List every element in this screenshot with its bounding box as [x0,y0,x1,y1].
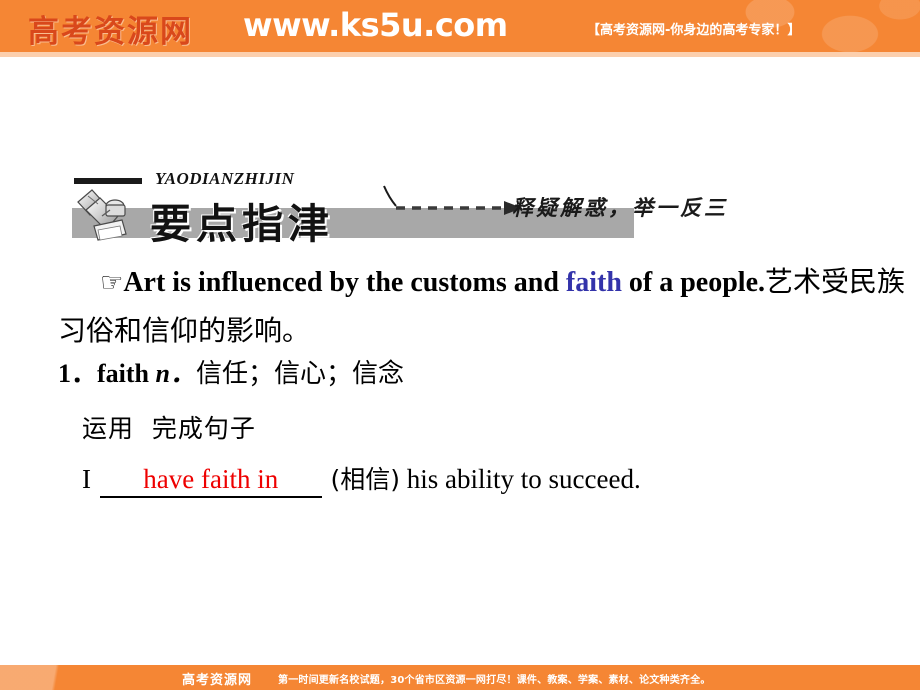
footer-text: 第一时间更新名校试题，30个省市区资源一网打尽！课件、教案、学案、素材、论文种类… [278,671,711,686]
answer-hint: (相信) [331,465,401,494]
lead-paragraph: ☞Art is influenced by the customs and fa… [58,258,920,355]
section-pinyin: YAODIANZHIJIN [155,169,294,189]
section-title-box: YAODIANZHIJIN 要点指津 释疑解惑，举一反三 [72,168,634,246]
lead-text-after: of a people. [622,267,765,298]
lead-zh-tail: 艺 [765,265,793,298]
practice-type-text: 完成句子 [152,414,256,443]
practice-label-text: 运用 [82,414,134,443]
brand-url: www.ks5u.com [243,6,508,44]
footer-logo: 高考资源网 [182,669,252,688]
vocab-entry: 1．faith n．信任；信心；信念 [58,353,404,390]
entry-definition: 信任；信心；信念 [196,359,404,389]
title-rule [74,178,142,184]
practice-heading: 运用 完成句子 [82,409,256,445]
slide-page: 高考资源网 www.ks5u.com 【高考资源网-你身边的高考专家！】 [0,0,920,690]
entry-part-of-speech: n． [156,359,196,388]
sentence-end: his ability to succeed. [407,464,641,494]
stapler-icon [76,186,140,246]
section-slogan: 释疑解惑，举一反三 [512,192,728,222]
entry-number: 1． [58,359,97,388]
answer-blank[interactable]: have faith in [100,464,322,498]
header-underline [0,52,920,57]
entry-word: faith [97,359,149,388]
section-title: 要点指津 [150,190,334,250]
footer-banner: 高考资源网 第一时间更新名校试题，30个省市区资源一网打尽！课件、教案、学案、素… [0,665,920,690]
sentence-start: I [82,464,91,494]
brand-logo: 高考资源网 [28,6,193,51]
practice-sentence: I have faith in (相信) his ability to succ… [82,460,641,498]
lead-keyword: faith [566,267,622,298]
lead-text-before: Art is influenced by the customs and [123,267,566,298]
brand-tagline: 【高考资源网-你身边的高考专家！】 [587,19,800,38]
header-banner: 高考资源网 www.ks5u.com 【高考资源网-你身边的高考专家！】 [0,0,920,52]
dashed-arrow-icon [380,184,530,226]
pointing-hand-icon: ☞ [58,268,123,298]
